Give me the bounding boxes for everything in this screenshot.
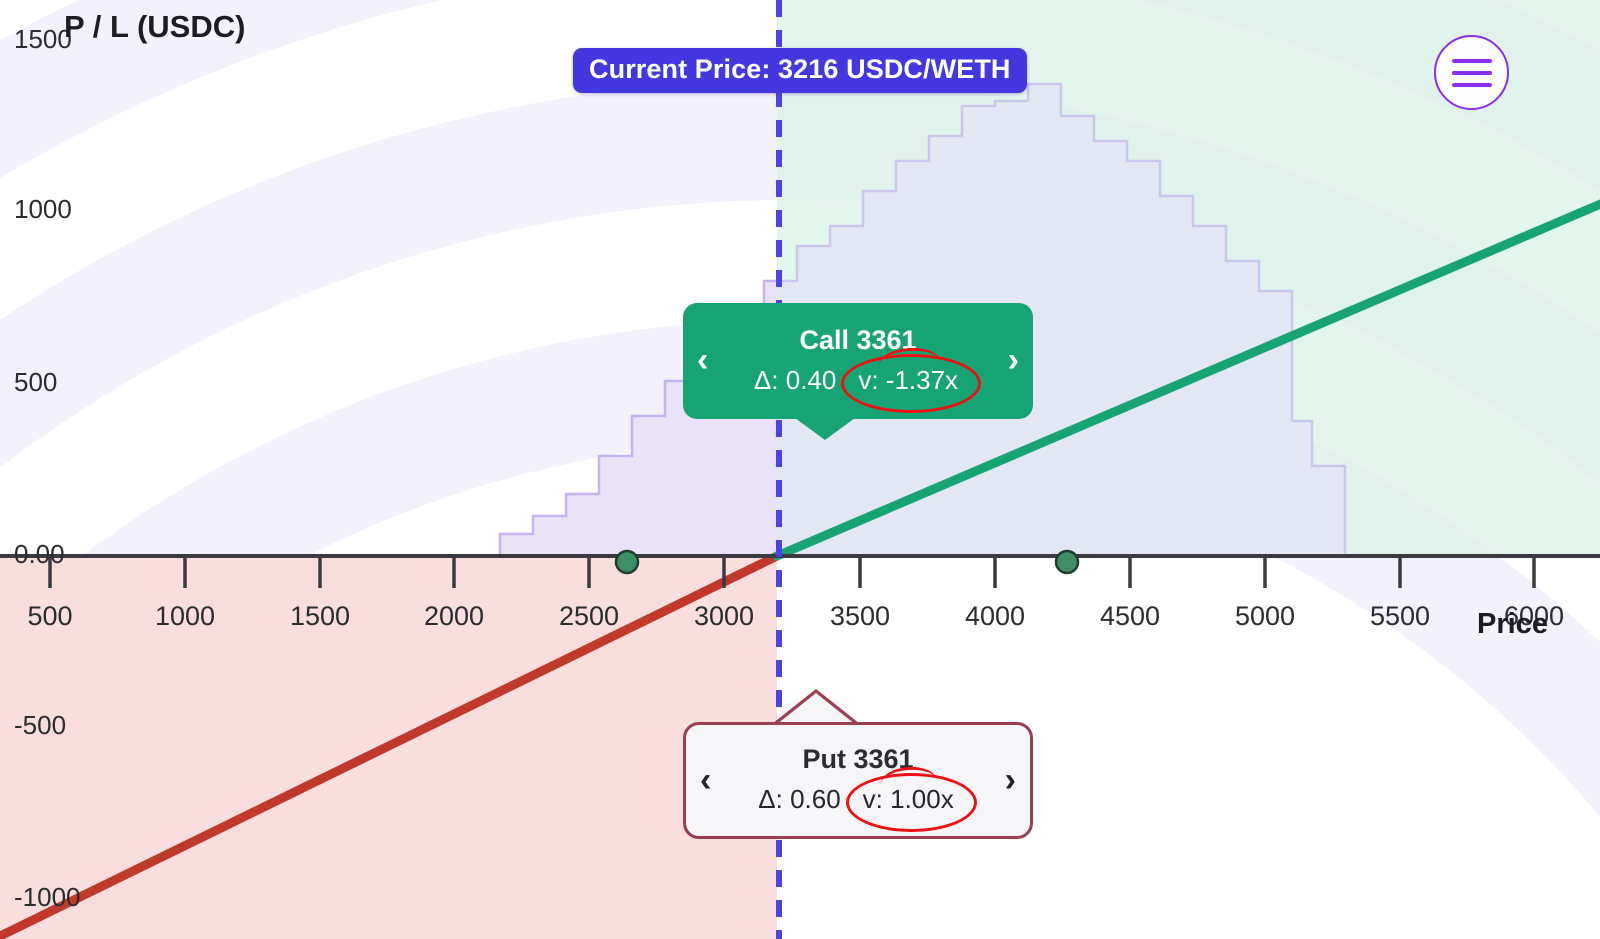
call-prev-button[interactable]: ‹ bbox=[691, 343, 714, 377]
put-prev-button[interactable]: ‹ bbox=[694, 763, 717, 797]
y-axis-title: P / L (USDC) bbox=[64, 9, 245, 45]
call-vega-wrapper: v: -1.37x bbox=[854, 365, 962, 396]
put-vega-value: v: 1.00x bbox=[863, 784, 954, 814]
y-tick-neg1000: -1000 bbox=[14, 884, 81, 910]
x-tick-2500: 2500 bbox=[559, 603, 619, 630]
x-tick-1500: 1500 bbox=[290, 603, 350, 630]
call-tooltip-body: Call 3361 Δ: 0.40 v: -1.37x bbox=[714, 325, 1001, 396]
pl-payoff-chart-screen: 1500 1000 500 0.00 -500 -1000 P / L (USD… bbox=[0, 0, 1600, 939]
call-leg-tooltip[interactable]: ‹ Call 3361 Δ: 0.40 v: -1.37x › bbox=[683, 303, 1033, 419]
y-tick-500: 500 bbox=[14, 369, 57, 395]
call-tooltip-title: Call 3361 bbox=[714, 325, 1001, 356]
call-next-button[interactable]: › bbox=[1002, 343, 1025, 377]
y-tick-0: 0.00 bbox=[14, 541, 65, 567]
put-tooltip-body: Put 3361 Δ: 0.60 v: 1.00x bbox=[717, 744, 998, 815]
call-tooltip-pointer-icon bbox=[795, 418, 855, 440]
hamburger-menu-icon-bar-1 bbox=[1452, 59, 1492, 63]
x-tick-5500: 5500 bbox=[1370, 603, 1430, 630]
x-tick-3500: 3500 bbox=[830, 603, 890, 630]
y-tick-1000: 1000 bbox=[14, 196, 72, 222]
current-price-badge: Current Price: 3216 USDC/WETH bbox=[573, 48, 1027, 93]
y-tick-neg500: -500 bbox=[14, 712, 66, 738]
call-vega-value: v: -1.37x bbox=[858, 365, 958, 395]
put-leg-tooltip[interactable]: ‹ Put 3361 Δ: 0.60 v: 1.00x › bbox=[683, 722, 1033, 839]
hamburger-menu-icon-bar-2 bbox=[1452, 71, 1492, 75]
x-tick-2000: 2000 bbox=[424, 603, 484, 630]
put-next-button[interactable]: › bbox=[999, 763, 1022, 797]
put-tooltip-title: Put 3361 bbox=[717, 744, 998, 775]
call-tooltip-metrics: Δ: 0.40 v: -1.37x bbox=[714, 365, 1001, 396]
x-tick-5000: 5000 bbox=[1235, 603, 1295, 630]
put-tooltip-metrics: Δ: 0.60 v: 1.00x bbox=[717, 784, 998, 815]
x-tick-1000: 1000 bbox=[155, 603, 215, 630]
call-delta-value: Δ: 0.40 bbox=[754, 365, 836, 396]
hamburger-menu-button[interactable] bbox=[1434, 35, 1509, 110]
hamburger-menu-icon-bar-3 bbox=[1452, 83, 1492, 87]
x-tick-4000: 4000 bbox=[965, 603, 1025, 630]
x-axis-title: Price bbox=[1477, 608, 1548, 641]
x-tick-3000: 3000 bbox=[694, 603, 754, 630]
strike-marker-high bbox=[1056, 551, 1078, 573]
strike-marker-low bbox=[616, 551, 638, 573]
put-vega-wrapper: v: 1.00x bbox=[859, 784, 958, 815]
x-tick-500: 500 bbox=[27, 603, 72, 630]
put-delta-value: Δ: 0.60 bbox=[758, 784, 840, 815]
x-tick-4500: 4500 bbox=[1100, 603, 1160, 630]
